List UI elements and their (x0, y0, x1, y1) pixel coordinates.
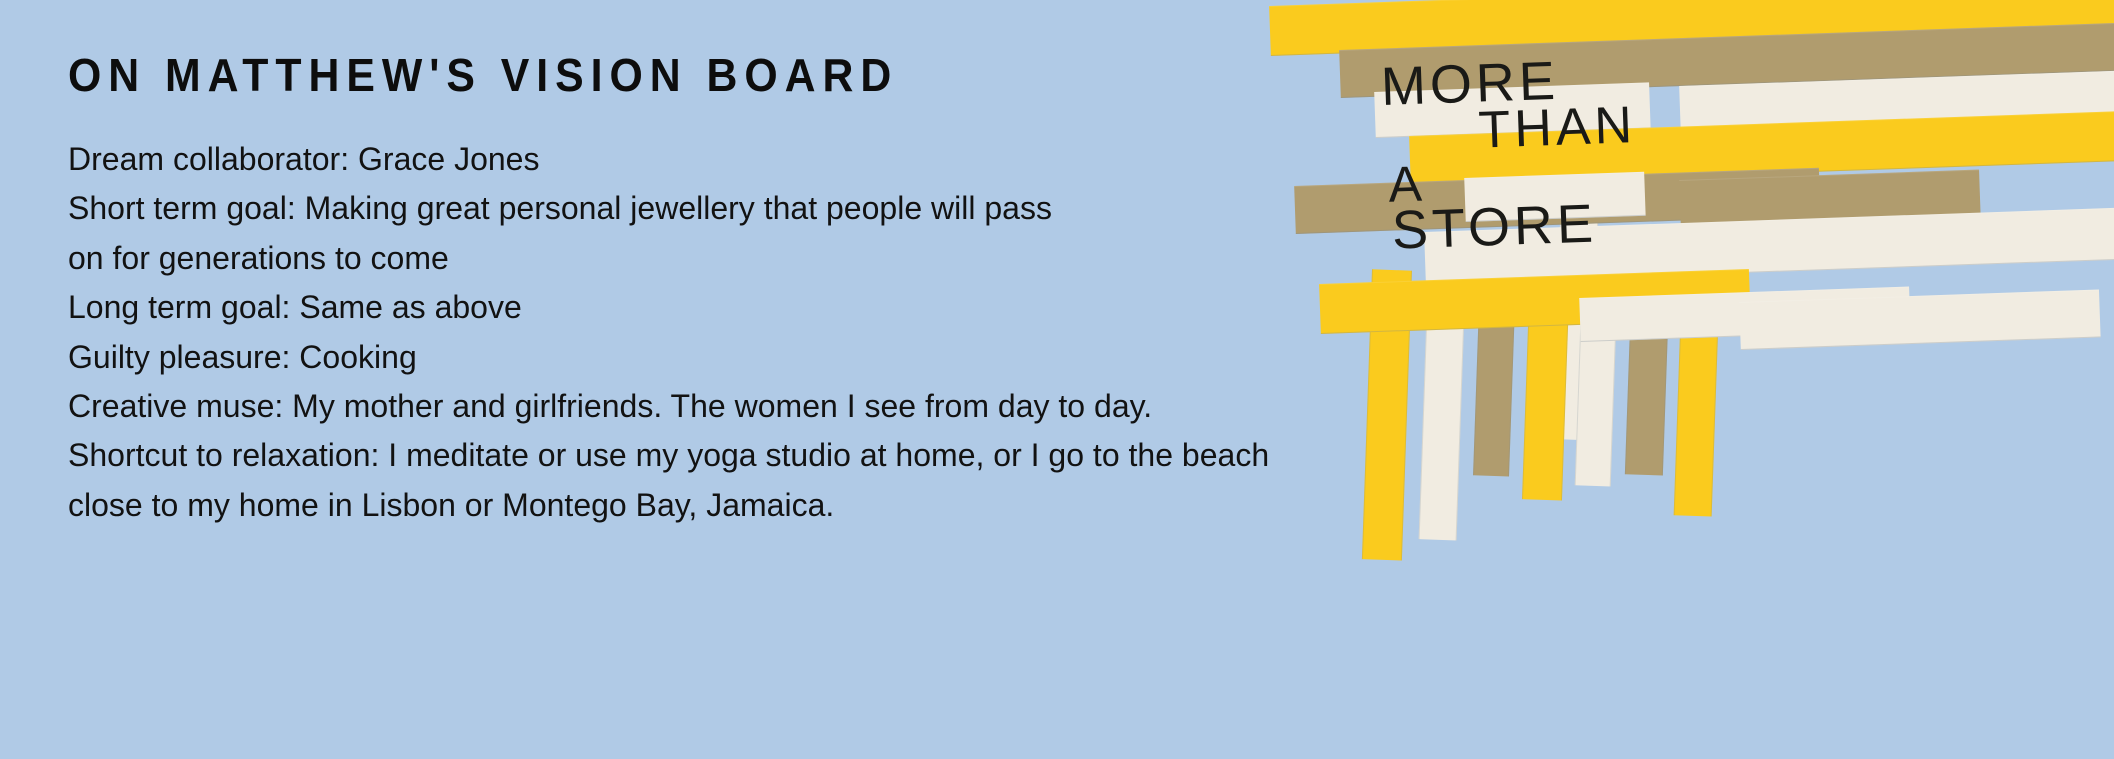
woven-paper-collage: MORE THAN A STORE (1180, 0, 2114, 759)
page-title: ON MATTHEW'S VISION BOARD (68, 52, 898, 98)
body-line: on for generations to come (68, 234, 1171, 283)
body-line: Short term goal: Making great personal j… (68, 184, 1171, 233)
body-line: close to my home in Lisbon or Montego Ba… (68, 481, 1171, 530)
body-line: Shortcut to relaxation: I meditate or us… (68, 431, 1171, 480)
body-line: Creative muse: My mother and girlfriends… (68, 382, 1171, 431)
collage-word-store: STORE (1391, 197, 1598, 258)
body-line: Dream collaborator: Grace Jones (68, 135, 1171, 184)
body-line: Long term goal: Same as above (68, 283, 1171, 332)
collage-word-than: THAN (1478, 99, 1637, 156)
article-body: Dream collaborator: Grace Jones Short te… (68, 135, 1188, 530)
article-text-column: ON MATTHEW'S VISION BOARD Dream collabor… (68, 0, 1188, 759)
editorial-page: ON MATTHEW'S VISION BOARD Dream collabor… (0, 0, 2114, 759)
body-line: Guilty pleasure: Cooking (68, 333, 1171, 382)
